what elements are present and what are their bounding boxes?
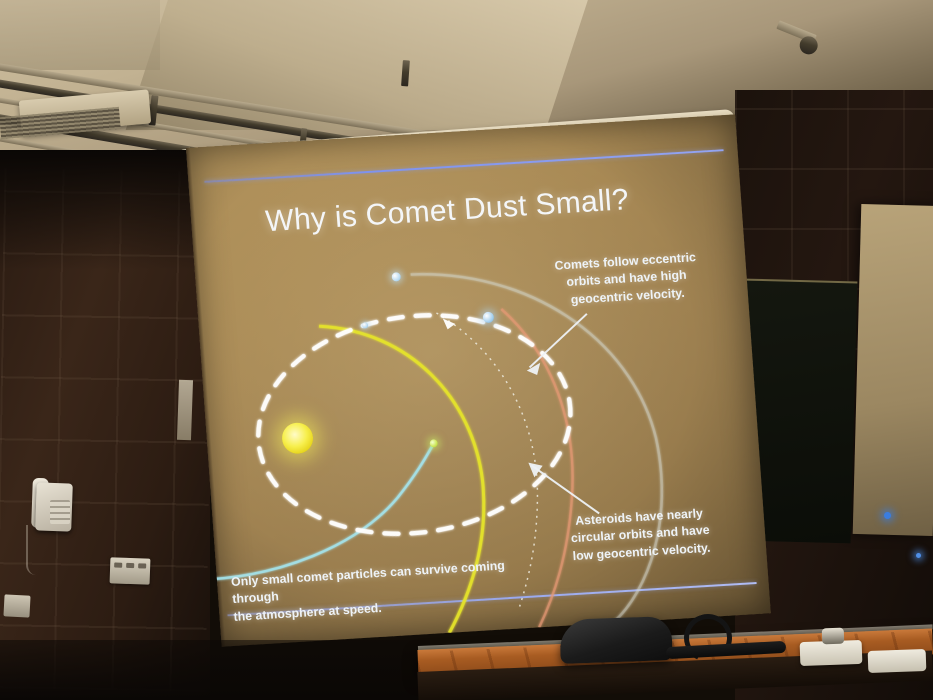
wall-shadow [0,150,210,270]
power-supply-knob[interactable] [822,628,845,645]
ceiling-shadow [0,0,160,70]
projection-screen: Why is Comet Dust Small? [186,114,771,646]
orbit-direction-arrow [443,318,456,330]
wall-notice [177,380,193,440]
foreground-shadow [0,640,430,700]
blue-led-icon [916,553,921,558]
telephone-keypad[interactable] [50,500,70,524]
white-adapter[interactable] [868,649,927,673]
annotation-comets: Comets follow eccentric orbits and have … [540,248,713,311]
black-bag[interactable] [559,616,672,664]
annotation-asteroids: Asteroids have nearly circular orbits an… [551,504,729,567]
asteroids-annotation-arrow [528,459,599,518]
light-switch-plate[interactable] [110,557,151,584]
power-outlet[interactable] [3,594,30,617]
lecture-room-photo: Why is Comet Dust Small? [0,0,933,700]
right-wall-panel [853,204,933,536]
cyan-trajectory [202,443,442,579]
blue-led-icon [884,512,891,519]
telephone-cord [26,525,38,575]
